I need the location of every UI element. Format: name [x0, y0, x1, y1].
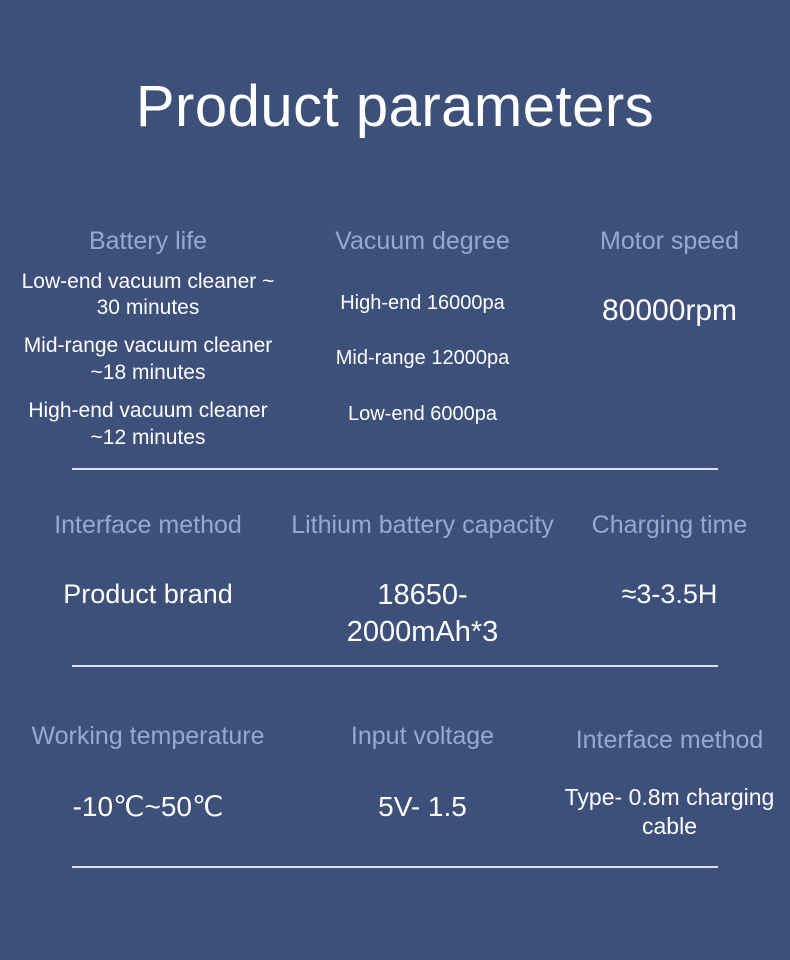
spec-value-list: High-end 16000pa Mid-range 12000pa Low-e…	[302, 291, 543, 428]
spec-column-battery-life: Battery life Low-end vacuum cleaner ~ 30…	[0, 228, 296, 452]
spec-value: High-end vacuum cleaner ~12 minutes	[12, 398, 284, 452]
spec-value: 5V- 1.5	[378, 789, 467, 825]
spec-value-list: Type- 0.8m charging cable	[555, 783, 784, 842]
spec-value-list: Product brand	[12, 577, 284, 612]
spec-header: Interface method	[54, 512, 242, 540]
spec-column-interface-method-cable: Interface method Type- 0.8m charging cab…	[549, 723, 790, 841]
spec-value: Low-end 6000pa	[348, 402, 497, 428]
spec-header: Charging time	[592, 512, 748, 540]
page-title: Product parameters	[0, 78, 790, 136]
spec-column-lithium-battery-capacity: Lithium battery capacity 18650-2000mAh*3	[296, 512, 549, 651]
spec-header: Input voltage	[351, 723, 494, 751]
spec-value: Low-end vacuum cleaner ~ 30 minutes	[12, 269, 284, 323]
spec-header: Battery life	[89, 228, 207, 256]
spec-row: Working temperature -10℃~50℃ Input volta…	[0, 723, 790, 841]
spec-header: Lithium battery capacity	[291, 512, 554, 540]
spec-column-vacuum-degree: Vacuum degree High-end 16000pa Mid-range…	[296, 228, 549, 427]
spec-column-motor-speed: Motor speed 80000rpm	[549, 228, 790, 330]
spec-value-list: -10℃~50℃	[12, 789, 284, 825]
spec-value-list: 18650-2000mAh*3	[302, 577, 543, 651]
section-divider	[72, 866, 718, 868]
spec-row: Battery life Low-end vacuum cleaner ~ 30…	[0, 228, 790, 452]
spec-value: Type- 0.8m charging cable	[555, 783, 784, 842]
spec-value: 80000rpm	[602, 292, 737, 330]
spec-value-list: 80000rpm	[555, 292, 784, 330]
product-parameters-page: Product parameters Battery life Low-end …	[0, 0, 790, 960]
spec-value: High-end 16000pa	[340, 291, 505, 317]
spec-value: Mid-range vacuum cleaner ~18 minutes	[12, 333, 284, 387]
spec-value: Product brand	[63, 577, 233, 612]
spec-value-list: ≈3-3.5H	[555, 577, 784, 612]
spec-header: Motor speed	[600, 228, 739, 256]
spec-column-input-voltage: Input voltage 5V- 1.5	[296, 723, 549, 824]
spec-header: Interface method	[576, 727, 764, 755]
spec-row: Interface method Product brand Lithium b…	[0, 512, 790, 651]
spec-column-charging-time: Charging time ≈3-3.5H	[549, 512, 790, 611]
spec-header: Vacuum degree	[335, 228, 510, 256]
spec-column-working-temperature: Working temperature -10℃~50℃	[0, 723, 296, 824]
spec-value: 18650-2000mAh*3	[302, 577, 543, 651]
spec-value: Mid-range 12000pa	[336, 346, 509, 372]
section-divider	[72, 468, 718, 470]
spec-value: ≈3-3.5H	[622, 577, 718, 612]
spec-column-interface-method: Interface method Product brand	[0, 512, 296, 611]
spec-header: Working temperature	[32, 723, 265, 751]
section-divider	[72, 665, 718, 667]
spec-value-list: 5V- 1.5	[302, 789, 543, 825]
spec-value: -10℃~50℃	[73, 789, 224, 825]
spec-value-list: Low-end vacuum cleaner ~ 30 minutes Mid-…	[12, 269, 284, 452]
